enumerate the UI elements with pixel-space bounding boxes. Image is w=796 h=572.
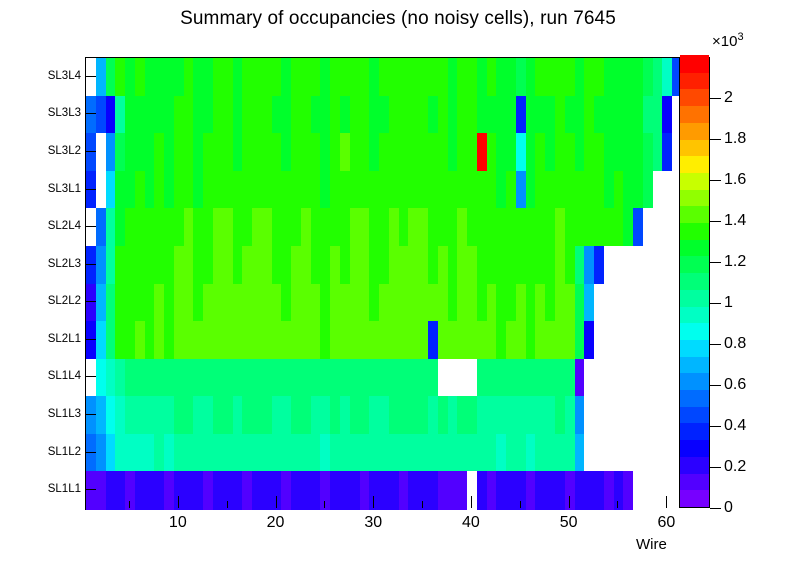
z-axis-tick-label: 0.4 [724, 417, 746, 435]
z-axis-tick [710, 385, 721, 386]
y-axis-labels: SL3L4SL3L3SL3L2SL3L1SL2L4SL2L3SL2L2SL2L1… [0, 57, 81, 508]
z-axis-tick-label: 1 [724, 294, 733, 312]
palette-band [680, 373, 709, 390]
palette-band [680, 106, 709, 123]
chart-canvas: Summary of occupancies (no noisy cells),… [0, 0, 796, 572]
palette-band [680, 172, 709, 189]
x-axis-major-tick [471, 496, 472, 508]
z-exponent-power: 3 [737, 31, 743, 43]
z-axis-tick [710, 303, 721, 304]
palette-band [680, 423, 709, 440]
z-axis-tick-label: 1.6 [724, 171, 746, 189]
z-axis-tick [710, 139, 721, 140]
palette-band [680, 323, 709, 340]
z-axis-tick-label: 0.6 [724, 376, 746, 394]
palette-band [680, 206, 709, 223]
x-axis-tick-label: 50 [560, 514, 578, 532]
x-axis-major-tick [373, 496, 374, 508]
y-axis-tick [85, 226, 96, 227]
z-axis-tick [710, 467, 721, 468]
y-axis-tick-label-sl1l2: SL1L2 [48, 446, 81, 458]
y-axis-tick-label-sl2l4: SL2L4 [48, 220, 81, 232]
z-axis-tick-label: 1.2 [724, 253, 746, 271]
x-axis-tick-label: 30 [364, 514, 382, 532]
x-axis-major-tick [178, 496, 179, 508]
y-axis-tick [85, 489, 96, 490]
x-axis-tick-label: 40 [462, 514, 480, 532]
x-axis-minor-tick [617, 501, 618, 508]
y-axis-tick-label-sl2l1: SL2L1 [48, 333, 81, 345]
y-axis-tick-label-sl2l3: SL2L3 [48, 258, 81, 270]
y-axis-tick [85, 264, 96, 265]
palette-band [680, 490, 709, 507]
palette-band [680, 289, 709, 306]
palette-band [680, 239, 709, 256]
x-axis-minor-tick [324, 501, 325, 508]
palette-band [680, 189, 709, 206]
z-axis-tick [710, 344, 721, 345]
palette-band [680, 156, 709, 173]
z-axis-tick [710, 98, 721, 99]
heatmap-cells [86, 58, 682, 509]
x-axis-major-tick [666, 496, 667, 508]
palette-band [680, 139, 709, 156]
y-axis-tick-label-sl3l1: SL3L1 [48, 183, 81, 195]
y-axis-tick-label-sl3l3: SL3L3 [48, 107, 81, 119]
palette-band [680, 122, 709, 139]
x-axis-major-tick [569, 496, 570, 508]
y-axis-tick-label-sl1l1: SL1L1 [48, 483, 81, 495]
z-axis-tick-label: 2 [724, 89, 733, 107]
chart-title: Summary of occupancies (no noisy cells),… [0, 8, 796, 30]
y-axis-tick-label-sl3l4: SL3L4 [48, 70, 81, 82]
y-axis-tick [85, 151, 96, 152]
z-axis-tick [710, 180, 721, 181]
z-axis-tick [710, 221, 721, 222]
heatmap-plot-frame [85, 57, 683, 510]
x-axis-title: Wire [636, 536, 667, 553]
x-axis-minor-tick [520, 501, 521, 508]
palette-band [680, 55, 709, 72]
z-axis-tick [710, 508, 721, 509]
y-axis-tick-label-sl1l4: SL1L4 [48, 370, 81, 382]
z-axis-tick-label: 0.2 [724, 458, 746, 476]
x-axis-tick-label: 10 [169, 514, 187, 532]
y-axis-tick [85, 301, 96, 302]
z-axis-tick-label: 1.4 [724, 212, 746, 230]
z-axis-tick-label: 1.8 [724, 130, 746, 148]
palette-band [680, 406, 709, 423]
z-axis-tick-label: 0.8 [724, 335, 746, 353]
y-axis-tick-label-sl2l2: SL2L2 [48, 295, 81, 307]
palette-band [680, 473, 709, 490]
z-axis-tick [710, 262, 721, 263]
palette-band [680, 456, 709, 473]
y-axis-tick-label-sl3l2: SL3L2 [48, 145, 81, 157]
y-axis-tick [85, 113, 96, 114]
palette-band [680, 273, 709, 290]
color-scale-bar [679, 57, 710, 508]
z-axis-tick [710, 426, 721, 427]
palette-band [680, 256, 709, 273]
palette-band [680, 339, 709, 356]
palette-band [680, 356, 709, 373]
y-axis-tick [85, 189, 96, 190]
x-axis-tick-label: 20 [267, 514, 285, 532]
y-axis-tick [85, 414, 96, 415]
z-axis-tick-label: 0 [724, 499, 733, 517]
y-axis-tick [85, 376, 96, 377]
palette-band [680, 440, 709, 457]
palette-band [680, 89, 709, 106]
z-exponent-base: ×10 [712, 33, 737, 50]
x-axis-minor-tick [227, 501, 228, 508]
palette-band [680, 389, 709, 406]
y-axis-tick [85, 452, 96, 453]
x-axis-major-tick [276, 496, 277, 508]
y-axis-tick-label-sl1l3: SL1L3 [48, 408, 81, 420]
palette-band [680, 222, 709, 239]
y-axis-tick [85, 339, 96, 340]
y-axis-tick [85, 76, 96, 77]
x-axis-tick-label: 60 [657, 514, 675, 532]
palette-band [680, 72, 709, 89]
z-axis-exponent: ×103 [712, 31, 744, 50]
x-axis-minor-tick [129, 501, 130, 508]
palette-band [680, 306, 709, 323]
x-axis-minor-tick [422, 501, 423, 508]
